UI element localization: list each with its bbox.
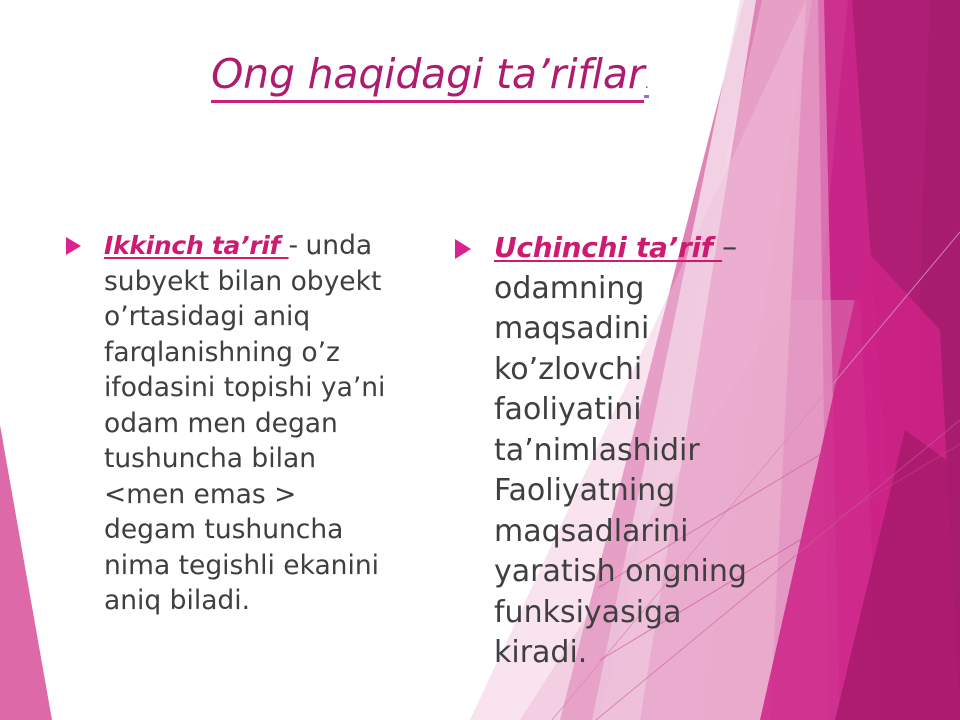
content-column-right: Uchinchi ta’rif – odamning maqsadini ko’…: [452, 228, 762, 674]
separator-dash-left: -: [289, 230, 299, 261]
triangle-right-bullet-icon: [66, 237, 81, 255]
bullet-item-ikkinch-tarif: Ikkinch ta’rif - unda subyekt bilan obye…: [64, 228, 394, 619]
wedge-pink-left: [0, 425, 52, 720]
page-title-period: .: [644, 75, 648, 98]
bullet-item-uchinchi-tarif: Uchinchi ta’rif – odamning maqsadini ko’…: [452, 228, 762, 674]
body-text-right: odamning maqsadini ko’zlovchi faoliyatin…: [494, 271, 747, 671]
separator-dash-right: –: [722, 230, 737, 265]
body-text-left: unda subyekt bilan obyekt o’rtasidagi an…: [104, 230, 385, 616]
wedge-magenta-corner: [835, 430, 960, 720]
lead-term-left: Ikkinch ta’rif: [104, 231, 289, 260]
triangle-right-bullet-icon: [455, 239, 471, 259]
lead-term-right: Uchinchi ta’rif: [494, 231, 722, 264]
page-title: Ong haqidagi ta’riflar: [211, 52, 644, 103]
slide-canvas: Ong haqidagi ta’riflar. Ikkinch ta’rif -…: [0, 0, 960, 720]
band-dark-magenta-right: [780, 0, 960, 720]
wedge-magenta-lower: [760, 250, 960, 720]
band-dark-magenta-outer: [905, 0, 960, 720]
slide-title-block: Ong haqidagi ta’riflar.: [0, 52, 860, 103]
content-column-left: Ikkinch ta’rif - unda subyekt bilan obye…: [64, 228, 394, 619]
